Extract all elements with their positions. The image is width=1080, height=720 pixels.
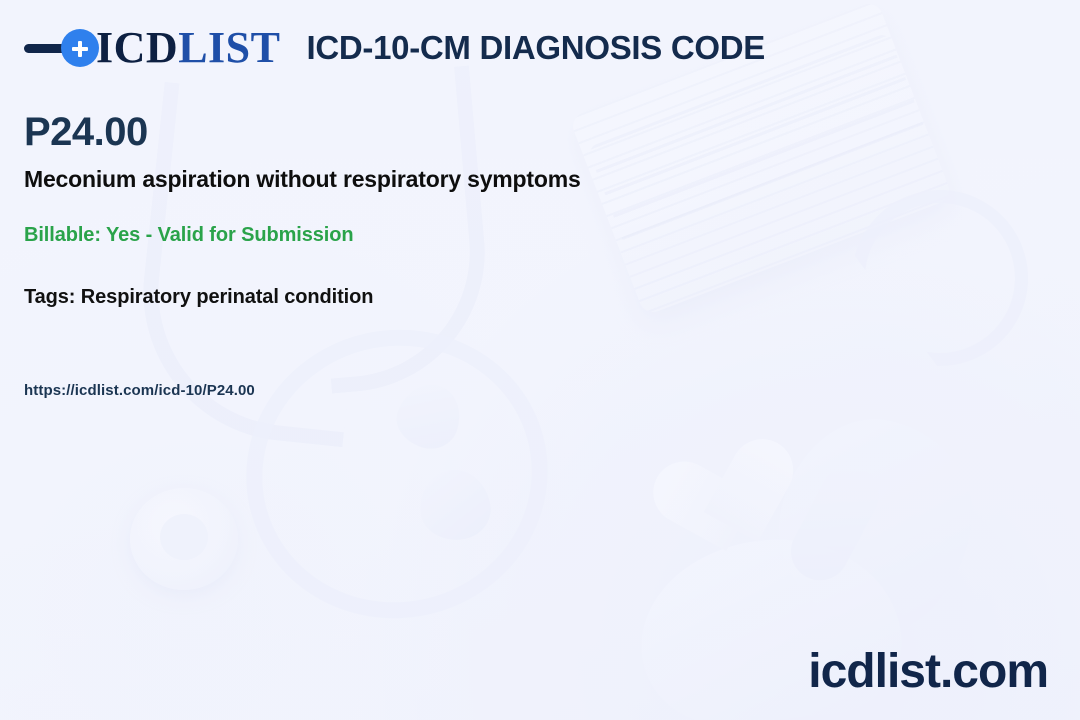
header-bar: ICDLIST ICD-10-CM DIAGNOSIS CODE bbox=[24, 26, 765, 70]
plus-icon bbox=[61, 29, 99, 67]
brand-footer: icdlist.com bbox=[808, 648, 1048, 696]
source-url[interactable]: https://icdlist.com/icd-10/P24.00 bbox=[24, 382, 255, 399]
page-title: ICD-10-CM DIAGNOSIS CODE bbox=[306, 29, 765, 67]
billable-status: Billable: Yes - Valid for Submission bbox=[24, 224, 353, 247]
diagnosis-code: P24.00 bbox=[24, 112, 148, 152]
icdlist-logo[interactable]: ICDLIST bbox=[24, 26, 280, 70]
logo-wordmark: ICDLIST bbox=[96, 26, 280, 70]
card-content: ICDLIST ICD-10-CM DIAGNOSIS CODE P24.00 … bbox=[0, 0, 1080, 720]
diagnosis-description: Meconium aspiration without respiratory … bbox=[24, 166, 581, 193]
logo-wordmark-list: LIST bbox=[178, 23, 280, 72]
logo-wordmark-icd: ICD bbox=[96, 23, 178, 72]
icd-code-card: ICDLIST ICD-10-CM DIAGNOSIS CODE P24.00 … bbox=[0, 0, 1080, 720]
tags-line: Tags: Respiratory perinatal condition bbox=[24, 286, 373, 309]
